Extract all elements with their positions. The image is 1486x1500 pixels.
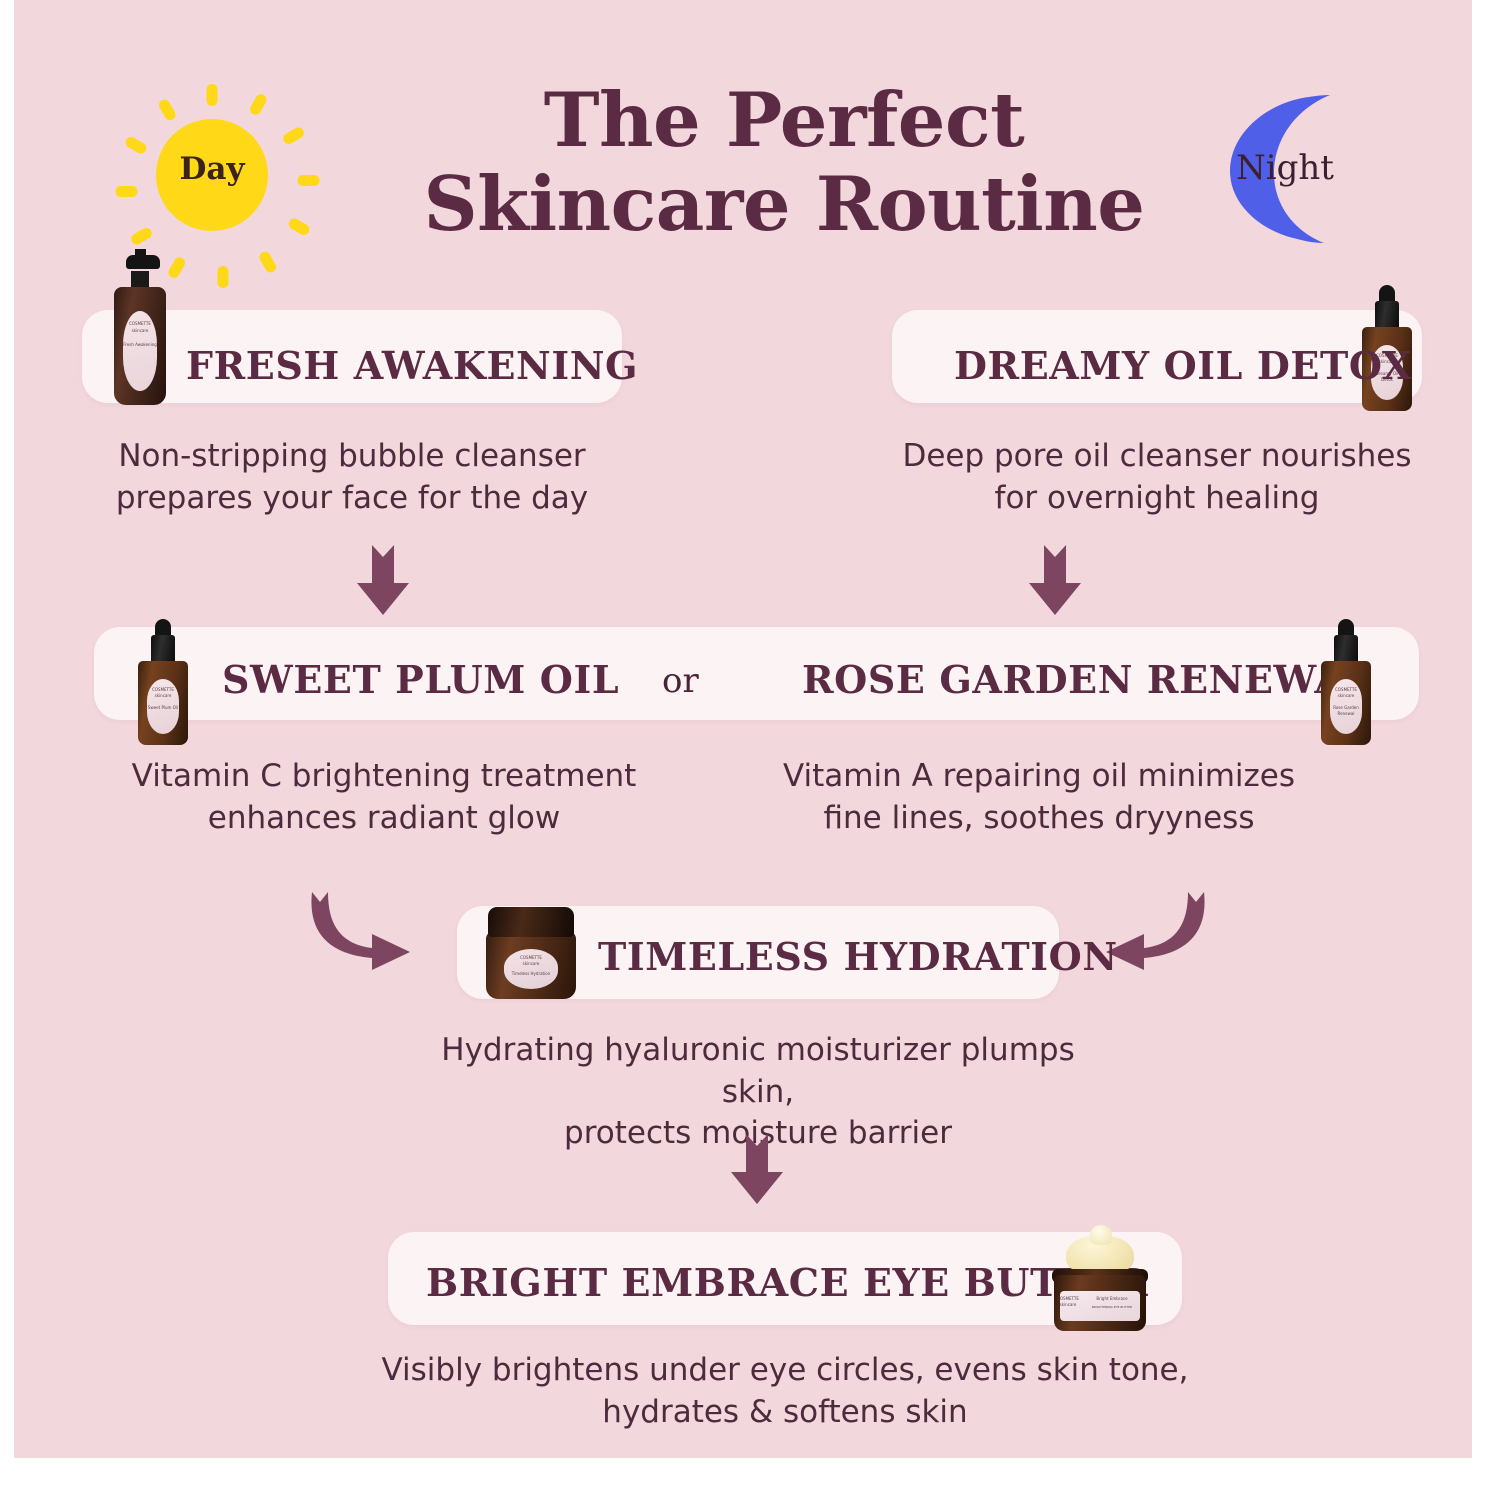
description-line: fine lines, soothes dryyness [759,798,1319,840]
sun-ray-icon [281,125,306,146]
sun-ray-icon [258,250,279,275]
arrow-down-icon [1026,545,1084,615]
description-line: Vitamin C brightening treatment [104,756,664,798]
description-sweet-plum-oil: Vitamin C brightening treatment enhances… [104,756,664,839]
sun-ray-icon [207,84,218,106]
arrow-curve-right-icon [302,890,420,972]
day-label: Day [112,151,312,187]
product-label-name: Timeless Hydration [504,971,558,977]
product-label-name: Rose Garden Renewal [1330,705,1362,717]
description-line: Non-stripping bubble cleanser [82,436,622,478]
description-line: Visibly brightens under eye circles, eve… [338,1350,1232,1392]
description-line: Vitamin A repairing oil minimizes [759,756,1319,798]
product-label-desc: BRIGHTENING EYE BUTTER [1082,1305,1142,1310]
product-label-name: Bright Embrace [1082,1296,1142,1302]
pump-bottle-icon: COSMETTE skincare Fresh Awakening [114,249,170,409]
night-moon-badge: Night [1210,88,1380,258]
description-rose-garden-renewal: Vitamin A repairing oil minimizes fine l… [759,756,1319,839]
dropper-bottle-icon: COSMETTE skincare Sweet Plum Oil [138,617,188,747]
card-title-fresh-awakening: FRESH AWAKENING [186,343,638,388]
product-label-brand: COSMETTE [123,321,157,327]
title-line-1: The Perfect [544,76,1025,164]
day-sun-badge: Day [112,75,312,275]
description-line: Deep pore oil cleanser nourishes [892,436,1422,478]
description-bright-embrace-eye-butter: Visibly brightens under eye circles, eve… [338,1350,1232,1433]
title-line-2: Skincare Routine [374,162,1194,246]
sun-ray-icon [248,92,269,117]
sun-ray-icon [129,226,154,247]
description-line: enhances radiant glow [104,798,664,840]
dropper-bottle-icon: COSMETTE skincare Rose Garden Renewal [1321,617,1371,747]
card-title-dreamy-oil-detox: DREAMY OIL DETOX [954,343,1412,388]
sun-ray-icon [287,216,312,237]
card-title-timeless-hydration: TIMELESS HYDRATION [598,934,1118,979]
product-label-name: Fresh Awakening [123,342,157,348]
night-label: Night [1210,148,1360,188]
product-label-sub: skincare [1330,693,1362,699]
cream-jar-icon: COSMETTE skincare Timeless Hydration [486,901,578,1001]
infographic-canvas: Day The Perfect Skincare Routine Night C… [14,0,1472,1458]
sun-ray-icon [157,98,178,123]
description-line: Hydrating hyaluronic moisturizer plumps … [407,1030,1109,1113]
description-line: hydrates & softens skin [338,1392,1232,1434]
page-title: The Perfect Skincare Routine [374,78,1194,246]
arrow-down-icon [354,545,412,615]
sun-ray-icon [116,186,138,197]
description-dreamy-oil-detox: Deep pore oil cleanser nourishes for ove… [892,436,1422,519]
eye-butter-jar-icon: COSMETTE skincare Bright Embrace BRIGHTE… [1054,1233,1146,1333]
product-label-sub: skincare [504,961,558,967]
product-label-sub: skincare [147,693,179,699]
card-title-sweet-plum-oil: SWEET PLUM OIL [222,657,619,702]
product-label-sub: skincare [123,328,157,334]
description-line: for overnight healing [892,478,1422,520]
card-title-rose-garden-renewal: ROSE GARDEN RENEWAL [802,657,1372,702]
or-label: or [662,661,699,701]
arrow-down-icon [728,1134,786,1204]
product-label-name: Sweet Plum Oil [147,705,179,711]
sun-ray-icon [218,266,229,288]
description-fresh-awakening: Non-stripping bubble cleanser prepares y… [82,436,622,519]
description-line: prepares your face for the day [82,478,622,520]
